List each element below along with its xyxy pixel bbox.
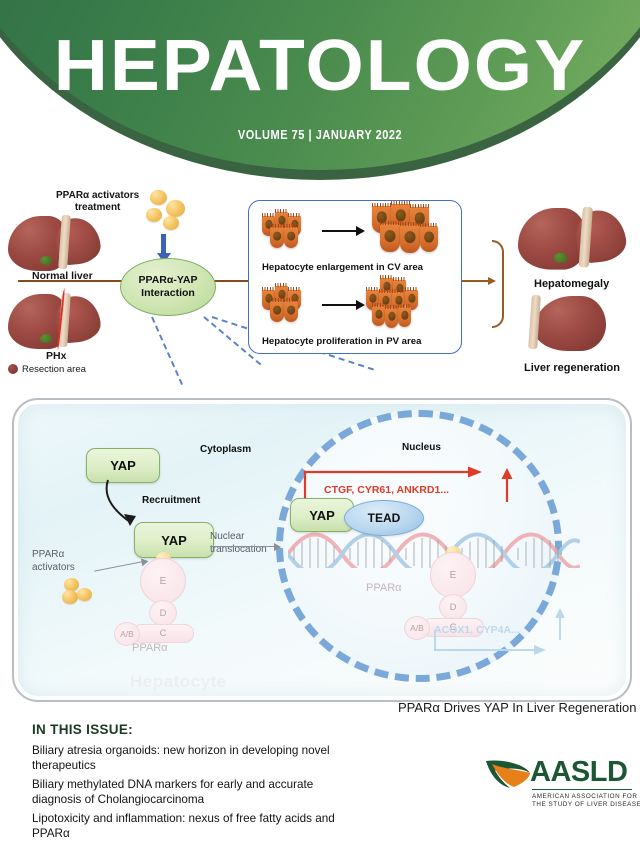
nucleus-label: Nucleus xyxy=(402,442,441,453)
ppar-upregulation-arrow-icon xyxy=(552,608,568,640)
hepatocyte-cell-diagram: Nucleus Cytoplasm YAP Recruitment YAP PP… xyxy=(12,398,632,702)
ppar-alpha-domain-cyto: E D C A/B PPARα xyxy=(126,552,236,648)
hub-line2: Interaction xyxy=(141,287,195,300)
ppar-yap-interaction-node: PPARα-YAP Interaction xyxy=(120,258,216,316)
ppar-alpha-name-cyto: PPARα xyxy=(132,642,168,654)
gallbladder xyxy=(40,334,52,343)
cover-caption: PPARα Drives YAP In Liver Regeneration xyxy=(398,700,637,715)
in-this-issue-heading: IN THIS ISSUE: xyxy=(32,722,133,737)
outcome-brace-icon xyxy=(492,240,504,328)
recruitment-label: Recruitment xyxy=(142,494,200,507)
issue-item-1[interactable]: Biliary atresia organoids: new horizon i… xyxy=(32,744,362,773)
hepatocyte-icon xyxy=(284,301,298,322)
volume-issue-line: VOLUME 75 | JANUARY 2022 xyxy=(38,128,601,142)
activator-drop-icon xyxy=(166,200,185,217)
normal-liver-illustration xyxy=(8,216,108,274)
ppar-activators-treatment-label: PPARα activators treatment xyxy=(56,190,139,214)
activator-drop-icon xyxy=(146,208,162,222)
cv-transition-arrow-icon xyxy=(322,230,356,232)
hepatocyte-watermark: Hepatocyte xyxy=(130,672,227,692)
hepatocyte-icon xyxy=(372,306,385,326)
domain-c: C xyxy=(132,624,194,643)
domain-e: E xyxy=(140,558,186,604)
activators-line1: PPARα xyxy=(32,549,64,560)
domain-ab: A/B xyxy=(404,616,430,640)
activator-drop-icon xyxy=(64,578,79,591)
hepatocyte-icon xyxy=(270,227,284,248)
top-schematic: Normal liver PHx Resection area PPARα ac… xyxy=(0,178,640,396)
domain-e: E xyxy=(430,552,476,598)
liver-left-lobe xyxy=(534,296,606,351)
journal-title: HEPATOLOGY xyxy=(0,24,640,108)
aasld-leaf-icon xyxy=(484,758,532,790)
yap-upregulation-arrow-icon xyxy=(499,468,515,502)
activation-arrow-icon xyxy=(161,234,166,254)
gallbladder xyxy=(554,253,567,263)
hepatocyte-icon xyxy=(398,307,411,327)
regenerating-liver-illustration xyxy=(520,296,620,354)
outcome-arrow-icon xyxy=(462,280,488,282)
hepatomegaly-liver-illustration xyxy=(518,208,640,277)
hub-line1: PPARα-YAP xyxy=(139,274,198,287)
aasld-divider xyxy=(532,789,632,790)
liver-regeneration-label: Liver regeneration xyxy=(524,362,620,374)
journal-cover: HEPATOLOGY VOLUME 75 | JANUARY 2022 Norm… xyxy=(0,0,640,851)
pv-transition-arrow-icon xyxy=(322,304,356,306)
ppar-activators-label: PPARα activators xyxy=(32,548,75,574)
activators-line1: PPARα activators xyxy=(56,190,139,201)
phx-label: PHx xyxy=(46,350,66,362)
connector-dash-left xyxy=(151,317,183,385)
hepatocyte-icon xyxy=(380,224,400,252)
resection-legend-label: Resection area xyxy=(22,364,86,375)
aasld-tagline-line2: THE STUDY OF LIVER DISEASES xyxy=(532,801,640,810)
resection-legend-dot-icon xyxy=(8,364,18,374)
tead-node: TEAD xyxy=(344,500,424,536)
masthead: HEPATOLOGY VOLUME 75 | JANUARY 2022 xyxy=(0,0,640,182)
aasld-logo[interactable]: AASLD AMERICAN ASSOCIATION FOR THE STUDY… xyxy=(484,756,634,818)
activator-drop-icon xyxy=(150,190,167,205)
issue-item-3[interactable]: Lipotoxicity and inflammation: nexus of … xyxy=(32,812,362,841)
yap-target-genes-label: CTGF, CYR61, ANKRD1... xyxy=(324,484,449,496)
issue-item-2[interactable]: Biliary methylated DNA markers for early… xyxy=(32,778,362,807)
hepatocyte-icon xyxy=(420,226,438,252)
activators-line2: treatment xyxy=(75,202,121,213)
cv-area-caption: Hepatocyte enlargement in CV area xyxy=(262,262,423,273)
cytoplasm-label: Cytoplasm xyxy=(200,444,251,455)
hepatocyte-icon xyxy=(385,308,398,328)
hepatocyte-icon xyxy=(270,301,284,322)
domain-d: D xyxy=(439,594,467,620)
translocation-line1: Nuclear xyxy=(210,531,244,542)
activators-line2: activators xyxy=(32,562,75,573)
aasld-wordmark: AASLD xyxy=(530,756,627,789)
nuclear-translocation-arrow-icon xyxy=(210,546,274,547)
domain-d: D xyxy=(149,600,177,626)
hepatocyte-icon xyxy=(284,227,298,248)
activator-drop-icon xyxy=(163,216,179,230)
activator-drop-icon xyxy=(77,588,92,601)
activator-drop-icon xyxy=(62,590,78,604)
hepatomegaly-label: Hepatomegaly xyxy=(534,278,609,290)
nuclear-translocation-label: Nuclear translocation xyxy=(210,530,267,556)
pv-area-caption: Hepatocyte proliferation in PV area xyxy=(262,336,421,347)
hepatocyte-icon xyxy=(400,225,420,253)
gallbladder xyxy=(40,256,52,265)
normal-liver-label: Normal liver xyxy=(32,270,93,282)
ppar-alpha-name-nuc: PPARα xyxy=(366,582,402,594)
ppar-target-genes-label: ACOX1, CYP4A... xyxy=(434,624,520,636)
